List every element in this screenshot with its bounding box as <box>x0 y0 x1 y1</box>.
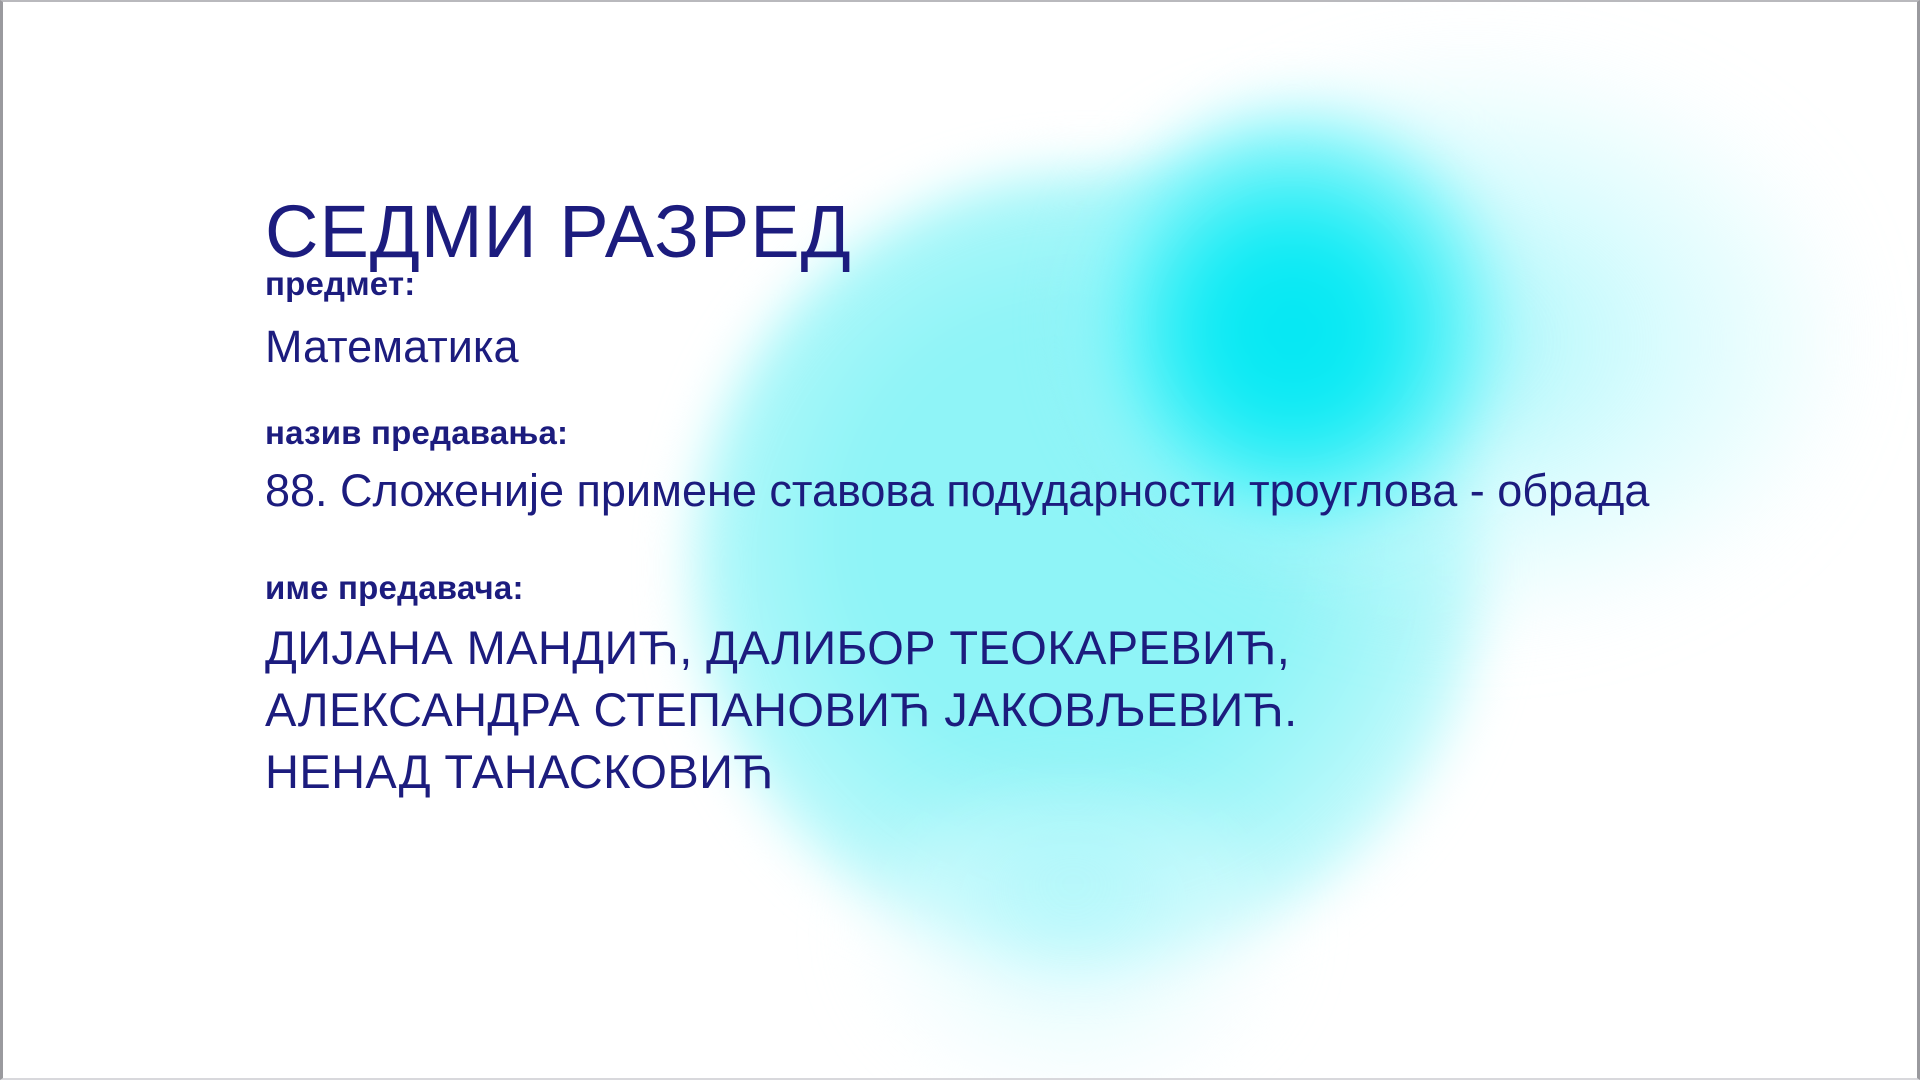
grade-title: СЕДМИ РАЗРЕД <box>265 195 852 269</box>
title-slide: СЕДМИ РАЗРЕД предмет: Математика назив п… <box>0 0 1920 1080</box>
lecturer-name-line: ДИЈАНА МАНДИЋ, ДАЛИБОР ТЕОКАРЕВИЋ, <box>265 617 1685 679</box>
lecturer-name-line: АЛЕКСАНДРА СТЕПАНОВИЋ ЈАКОВЉЕВИЋ. <box>265 679 1685 741</box>
lecturer-name-line: НЕНАД ТАНАСКОВИЋ <box>265 741 1685 803</box>
slide-content: СЕДМИ РАЗРЕД предмет: Математика назив п… <box>265 2 1825 1078</box>
lecturer-names: ДИЈАНА МАНДИЋ, ДАЛИБОР ТЕОКАРЕВИЋ, АЛЕКС… <box>265 617 1685 803</box>
subject-value: Математика <box>265 324 519 369</box>
lecturer-label: име предавача: <box>265 571 524 604</box>
lecture-title-value: 88. Сложеније примене ставова подударнос… <box>265 464 1765 518</box>
subject-label: предмет: <box>265 267 415 300</box>
lecture-title-label: назив предавања: <box>265 416 568 449</box>
